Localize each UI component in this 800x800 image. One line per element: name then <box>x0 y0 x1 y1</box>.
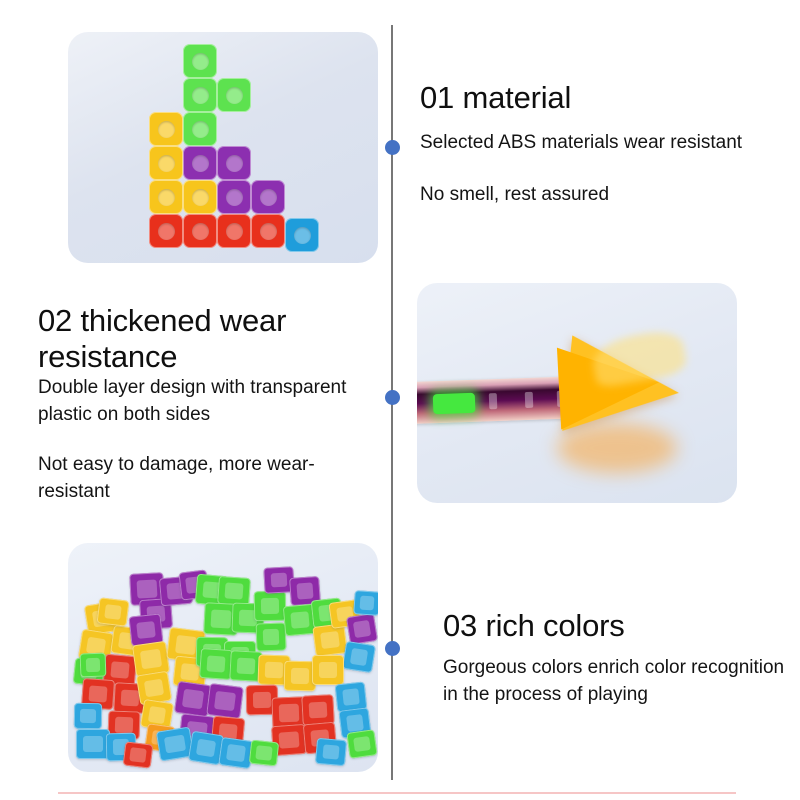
feature-body-01-line-2: No smell, rest assured <box>420 182 780 209</box>
feature-title-01: 01 material <box>420 80 780 116</box>
pile-block-yellow <box>312 655 344 685</box>
timeline-dot-01 <box>385 140 400 155</box>
green-block-glow <box>433 393 476 414</box>
pile-block-red <box>123 741 154 768</box>
feature-title-02: 02 thickened wear resistance <box>38 303 388 375</box>
feature-image-rich-colors <box>68 543 378 772</box>
feature-title-03: 03 rich colors <box>443 608 783 644</box>
timeline-dot-03 <box>385 641 400 656</box>
feature-body-02-line-2: Not easy to damage, more wear-resistant <box>38 452 386 506</box>
cube-red <box>149 214 183 248</box>
cube-green <box>183 78 217 112</box>
cube-green <box>183 112 217 146</box>
pile-block-blue <box>353 590 378 616</box>
cube-green <box>183 44 217 78</box>
cube-green <box>217 78 251 112</box>
cube-staircase <box>68 32 378 263</box>
pile-block-green <box>256 622 287 651</box>
cube-red <box>183 214 217 248</box>
pile-block-green <box>217 576 251 606</box>
strip-stud <box>525 392 534 408</box>
feature-body-03-line-1: Gorgeous colors enrich color recognition… <box>443 655 795 709</box>
cube-purple <box>217 146 251 180</box>
cube-purple <box>251 180 285 214</box>
block-pile <box>68 543 378 772</box>
infographic-page: 01 material Selected ABS materials wear … <box>0 0 800 800</box>
pile-block-green <box>254 591 287 622</box>
cube-yellow <box>149 146 183 180</box>
pile-block-blue <box>342 641 376 673</box>
pile-block-blue <box>74 703 102 729</box>
cube-red <box>251 214 285 248</box>
feature-image-material <box>68 32 378 263</box>
timeline-dot-02 <box>385 390 400 405</box>
pile-block-blue <box>76 729 110 759</box>
pile-block-green <box>80 653 107 678</box>
bottom-divider <box>58 792 736 794</box>
cube-blue <box>285 218 319 252</box>
macro-photo <box>417 283 737 503</box>
pile-block-purple <box>206 683 244 719</box>
cube-yellow <box>149 180 183 214</box>
pile-block-blue <box>315 738 347 767</box>
pile-block-green <box>249 740 279 767</box>
cube-yellow <box>149 112 183 146</box>
pile-block-green <box>346 729 377 759</box>
strip-stud <box>489 393 498 409</box>
cube-yellow <box>183 180 217 214</box>
cube-purple <box>183 146 217 180</box>
cube-red <box>217 214 251 248</box>
pile-block-yellow <box>312 623 347 657</box>
pile-block-blue <box>218 737 254 769</box>
cube-purple <box>217 180 251 214</box>
pile-block-yellow <box>97 597 130 626</box>
feature-body-01-line-1: Selected ABS materials wear resistant <box>420 130 792 157</box>
feature-body-02-line-1: Double layer design with transparent pla… <box>38 375 386 429</box>
pile-block-green <box>199 648 233 680</box>
feature-image-wear-resistance <box>417 283 737 503</box>
pile-block-purple <box>346 613 378 645</box>
